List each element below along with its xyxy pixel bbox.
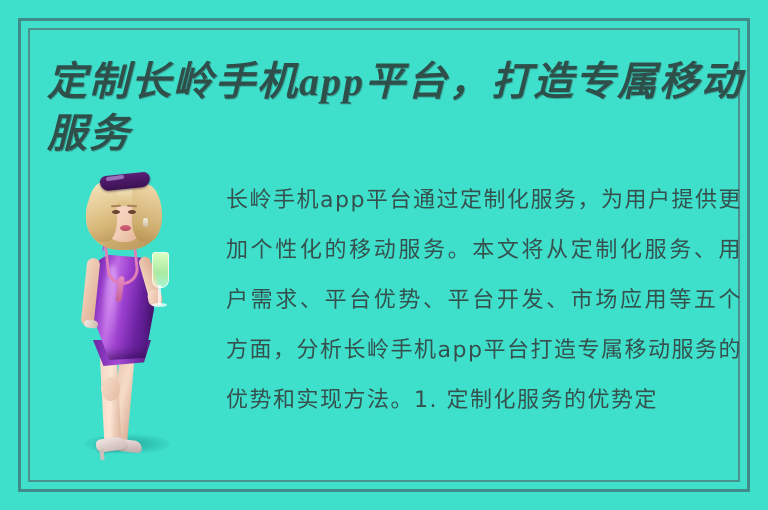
- poster-canvas: 定制长岭手机app平台，打造专属移动服务: [0, 0, 768, 510]
- eye-right: [128, 210, 136, 214]
- hair-right-side: [132, 184, 162, 242]
- woman-with-champagne-illustration: [60, 172, 205, 472]
- champagne-glass-base: [152, 303, 167, 307]
- article-body-text: 长岭手机app平台通过定制化服务，为用户提供更加个性化的移动服务。本文将从定制化…: [226, 176, 742, 468]
- eye-left: [112, 210, 120, 214]
- page-title: 定制长岭手机app平台，打造专属移动服务: [47, 56, 747, 160]
- champagne-glass-icon: [152, 252, 169, 288]
- bracelet: [84, 319, 99, 329]
- champagne-glass-stem: [158, 285, 161, 305]
- earring: [143, 218, 148, 227]
- lips: [120, 225, 131, 231]
